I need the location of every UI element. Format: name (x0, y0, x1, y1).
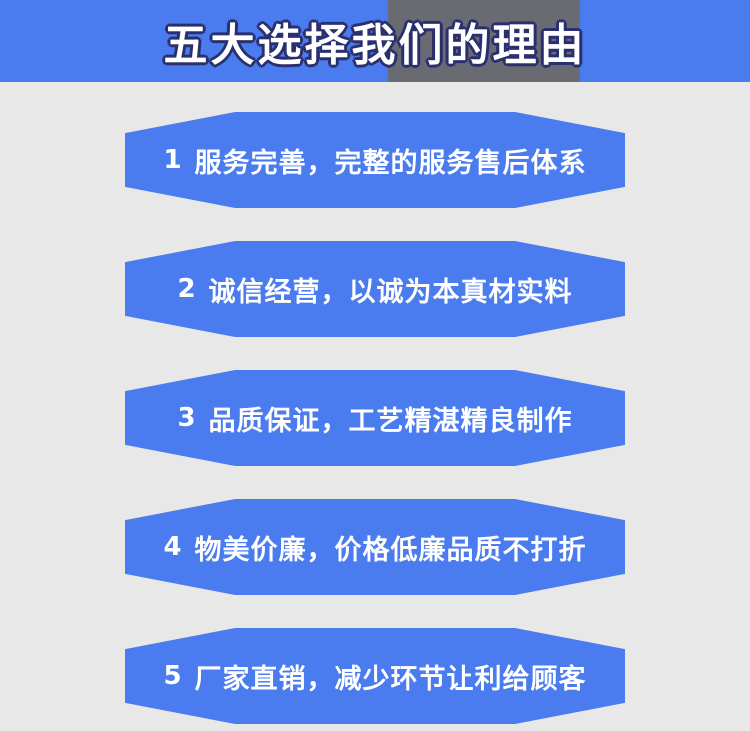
reason-list: 1 服务完善，完整的服务售后体系 2 诚信经营，以诚为本真材实料 3 品质保证，… (0, 82, 750, 731)
reason-number: 1 (163, 145, 182, 175)
reason-number: 4 (163, 532, 182, 562)
reason-number: 3 (177, 403, 196, 433)
reason-item-5: 5 厂家直销，减少环节让利给顾客 (125, 628, 625, 724)
reason-label: 物美价廉，价格低廉品质不打折 (195, 528, 587, 567)
reason-content: 3 品质保证，工艺精湛精良制作 (125, 370, 625, 466)
reason-label: 服务完善，完整的服务售后体系 (195, 141, 587, 180)
reason-label: 诚信经营，以诚为本真材实料 (209, 270, 573, 309)
reason-content: 5 厂家直销，减少环节让利给顾客 (125, 628, 625, 724)
reason-item-3: 3 品质保证，工艺精湛精良制作 (125, 370, 625, 466)
reason-item-1: 1 服务完善，完整的服务售后体系 (125, 112, 625, 208)
reason-content: 4 物美价廉，价格低廉品质不打折 (125, 499, 625, 595)
poster-header: 五大选择我们的理由 (0, 0, 750, 82)
reason-number: 5 (163, 661, 182, 691)
reason-label: 品质保证，工艺精湛精良制作 (209, 399, 573, 438)
promo-poster: 五大选择我们的理由 1 服务完善，完整的服务售后体系 2 诚信经营，以诚为本真材… (0, 0, 750, 731)
reason-item-2: 2 诚信经营，以诚为本真材实料 (125, 241, 625, 337)
reason-content: 1 服务完善，完整的服务售后体系 (125, 112, 625, 208)
page-title: 五大选择我们的理由 (0, 0, 750, 82)
reason-label: 厂家直销，减少环节让利给顾客 (195, 657, 587, 696)
reason-number: 2 (177, 274, 196, 304)
reason-item-4: 4 物美价廉，价格低廉品质不打折 (125, 499, 625, 595)
reason-content: 2 诚信经营，以诚为本真材实料 (125, 241, 625, 337)
